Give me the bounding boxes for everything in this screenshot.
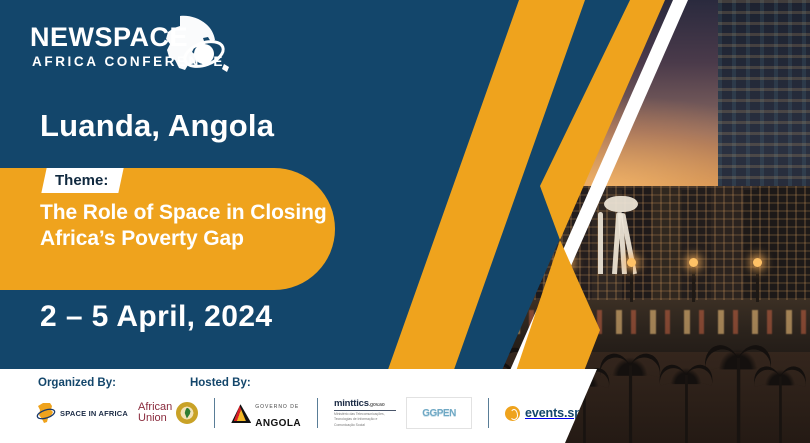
logo-space-in-africa: SPACE IN AFRICA [36,402,128,424]
angola-line1: GOVERNO DE [255,404,299,410]
angola-line2: ANGOLA [255,418,301,429]
footer-divider-2 [317,398,318,428]
theme-label: Theme: [41,168,124,193]
event-location: Luanda, Angola [40,108,274,144]
africa-map-icon [36,402,56,424]
space-in-africa-text: SPACE IN AFRICA [60,409,128,418]
angola-text: GOVERNO DE ANGOLA [255,395,301,431]
hosted-by-label: Hosted By: [190,377,251,389]
newspace-africa-logo: NEWSPACE AFRICA CONFERENCE [28,14,253,80]
logo-subtitle: AFRICA CONFERENCE [32,54,225,69]
minttics-domain: .gov.ao [369,402,385,408]
minttics-wordmark: minttics.gov.ao [334,398,396,409]
minttics-text: minttics [334,398,369,409]
logo-ggpen: GGPEN [406,397,472,429]
event-date: 2 – 5 April, 2024 [40,300,273,334]
angola-a-icon [231,403,251,423]
logo-governo-de-angola: GOVERNO DE ANGOLA [231,395,301,431]
conference-banner: NEWSPACE AFRICA CONFERENCE Luanda, Angol… [0,0,810,443]
footer-divider-3 [488,398,489,428]
au-line1: African [138,401,172,413]
minttics-rule [334,410,396,411]
footer-divider [214,398,215,428]
organized-by-label: Organized By: [38,377,116,389]
au-line2: Union [138,412,167,424]
footer-labels: Organized By: Hosted By: [38,377,251,389]
minttics-subtitle: Ministério das Telecomunicações, Tecnolo… [334,412,396,427]
theme-statement: The Role of Space in Closing Africa’s Po… [40,200,330,251]
logo-wordmark: NEWSPACE [30,22,188,52]
african-union-text: African Union [138,402,172,424]
globe-icon [505,406,520,421]
logo-minttics: minttics.gov.ao Ministério das Telecomun… [334,398,396,427]
ggpen-text: GGPEN [422,408,456,419]
theme-label-text: Theme: [55,172,108,189]
logo-african-union: African Union [138,402,198,424]
african-union-emblem-icon [176,402,198,424]
